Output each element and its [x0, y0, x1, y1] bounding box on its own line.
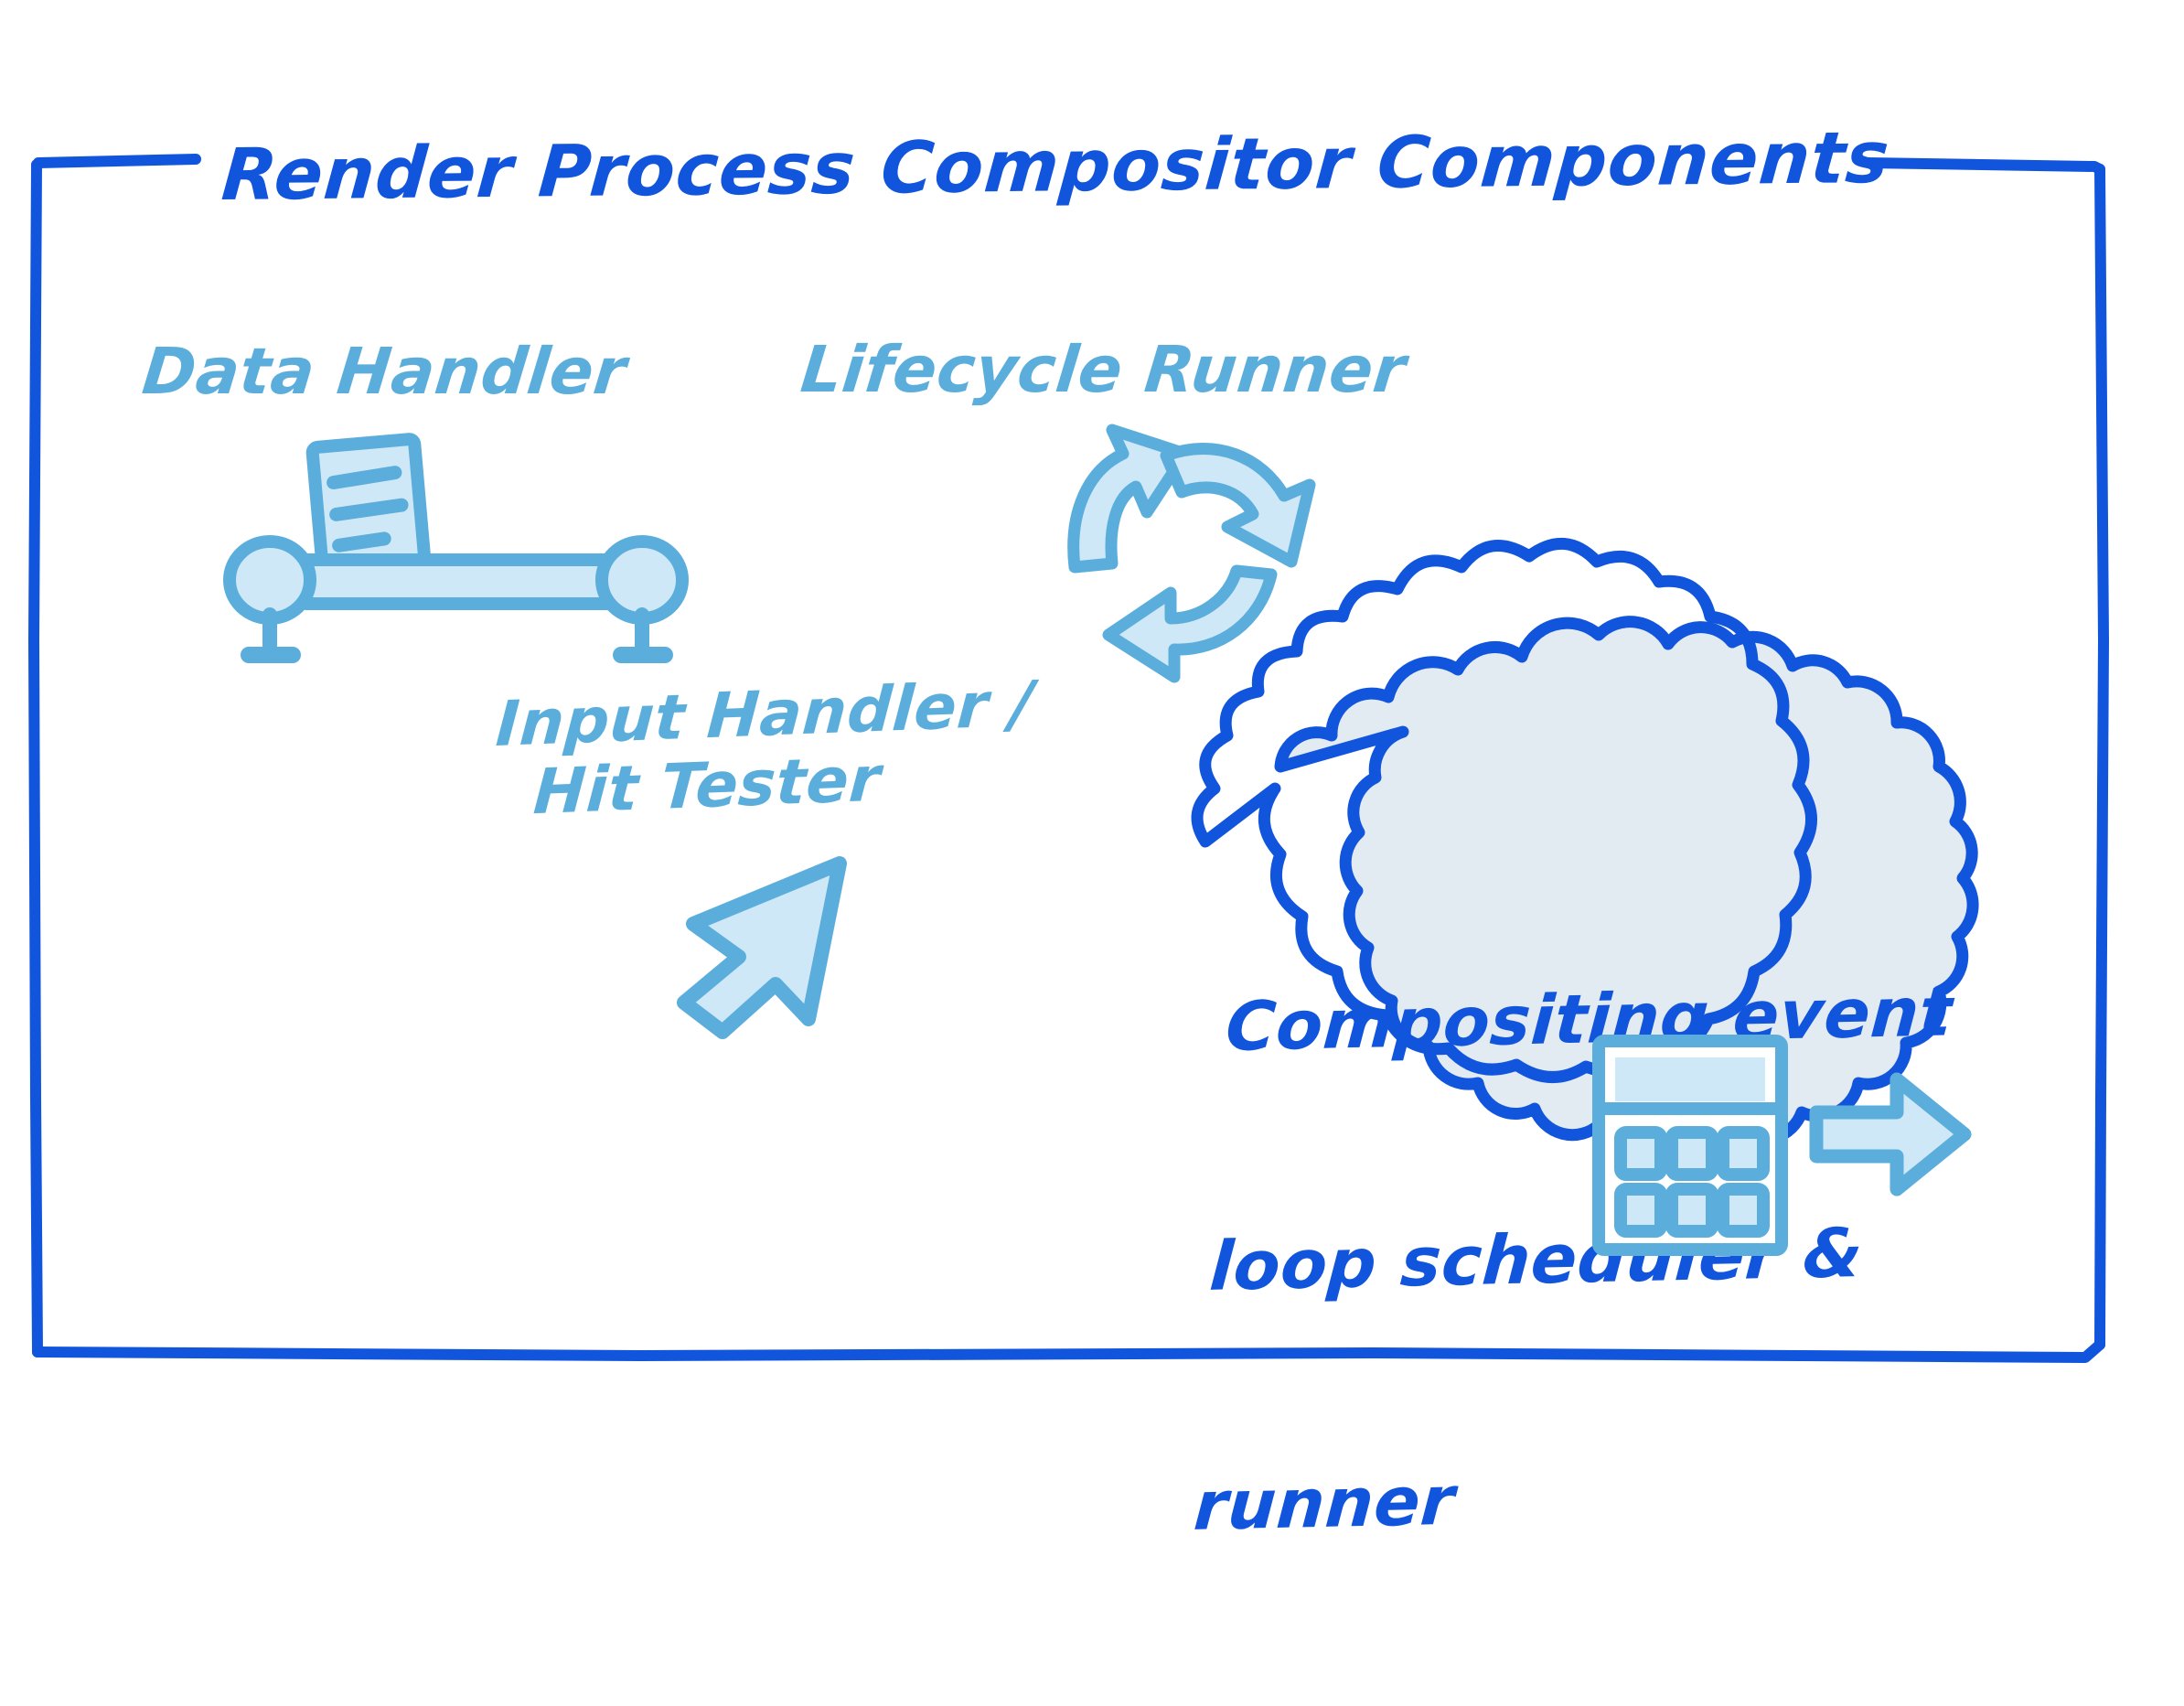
right-arrow-icon — [0, 0, 2184, 1526]
diagram-canvas: Render Process Compositor Components Dat… — [0, 0, 2184, 1526]
